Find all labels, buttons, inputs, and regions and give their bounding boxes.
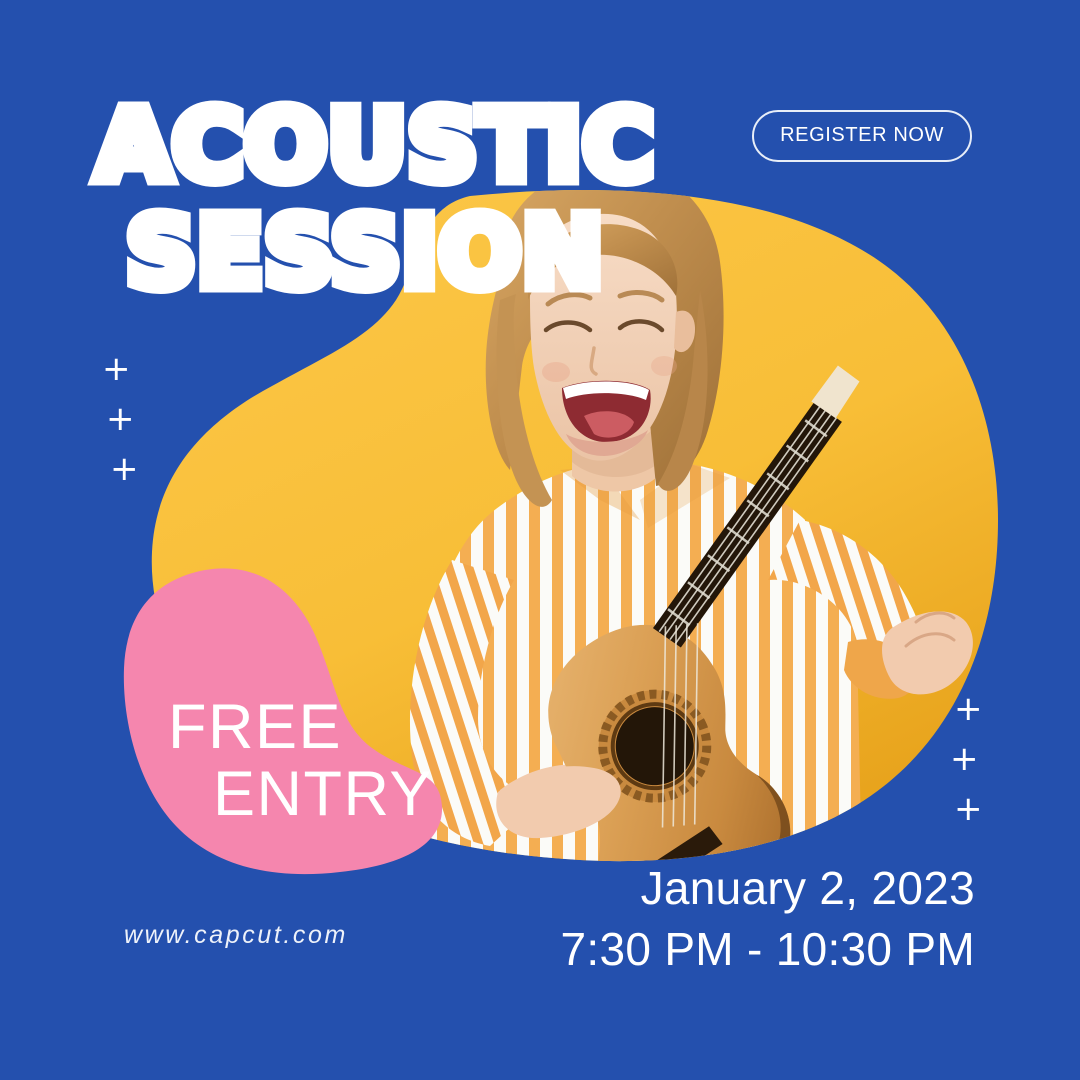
artwork-stage bbox=[0, 0, 1080, 1080]
register-now-button[interactable]: REGISTER NOW bbox=[752, 110, 972, 162]
poster-canvas: ACOUSTIC SESSION REGISTER NOW FREE ENTRY… bbox=[0, 0, 1080, 1080]
